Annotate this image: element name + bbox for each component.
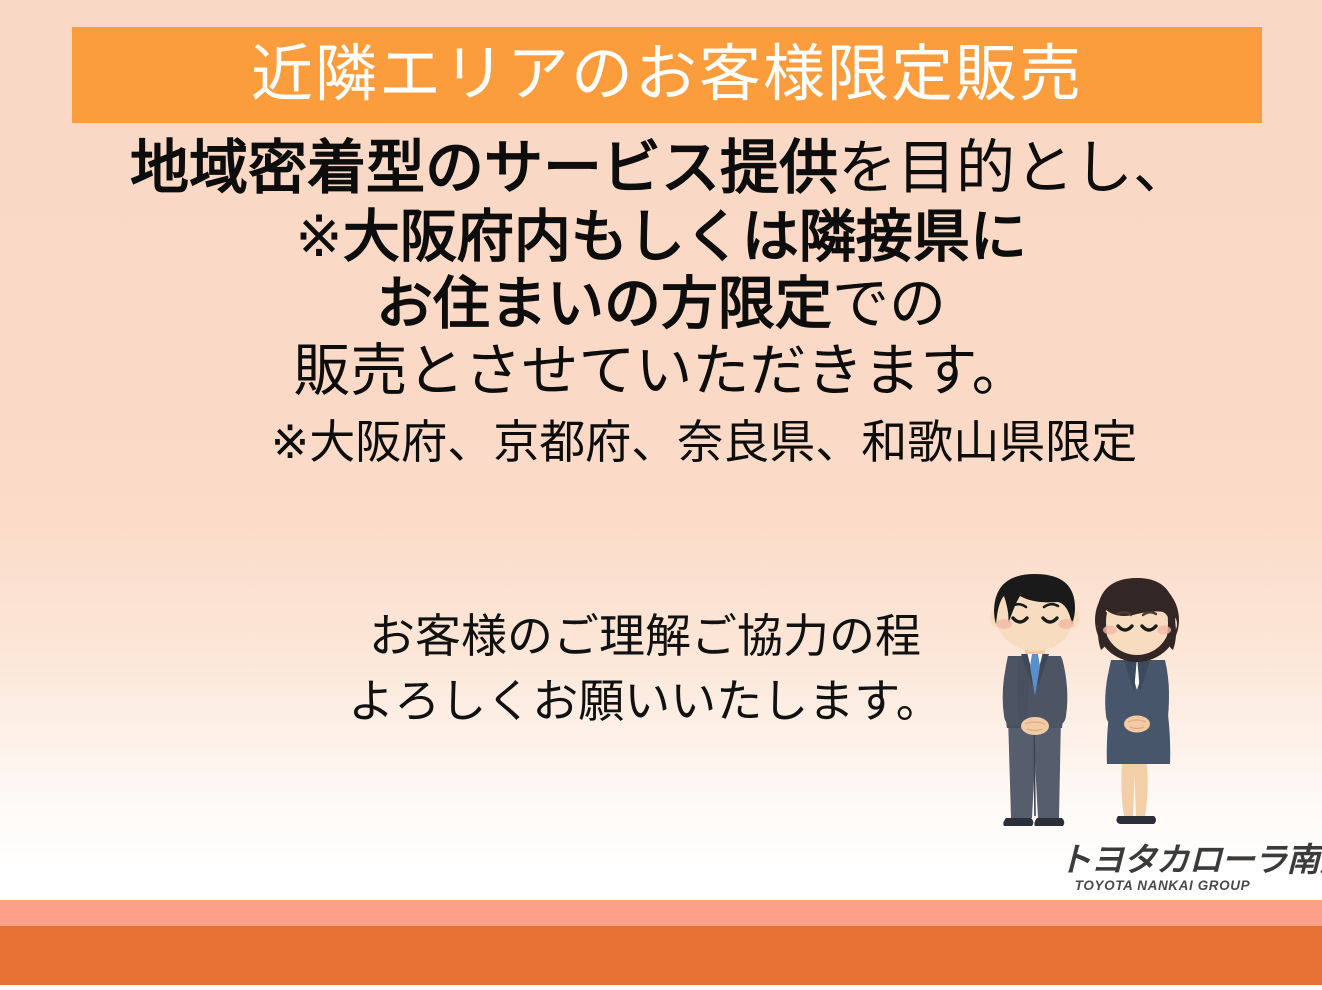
bowing-people-illustration [975,566,1210,851]
logo-english-text: TOYOTA NANKAI GROUP [1060,879,1265,893]
closing-line-2: よろしくお願いいたします。 [348,669,941,734]
message-line-3-strong: お住まいの方限定 [376,272,832,336]
message-line-1-normal: を目的とし、 [838,135,1192,201]
brand-logo: トヨタカローラ南海 TOYOTA NANKAI GROUP [1060,843,1265,893]
message-line-1-strong: 地域密着型のサービス提供 [130,135,838,201]
message-line-3-normal: での [832,272,946,336]
slide-root: 近隣エリアのお客様限定販売 地域密着型のサービス提供を目的とし、 ※大阪府内もし… [0,0,1322,990]
header-title: 近隣エリアのお客様限定販売 [251,44,1083,106]
footer-light-bar [0,900,1322,926]
closing-line-1: お客様のご理解ご協力の程 [348,604,941,669]
footer-white-edge [0,985,1322,990]
footer-dark-bar [0,926,1322,985]
header-banner: 近隣エリアのお客様限定販売 [72,27,1262,123]
message-line-2: ※大阪府内もしくは隣接県に [0,204,1322,271]
closing-message-inner: お客様のご理解ご協力の程 よろしくお願いいたします。 [348,604,941,735]
main-message-block: 地域密着型のサービス提供を目的とし、 ※大阪府内もしくは隣接県に お住まいの方限… [0,134,1322,470]
logo-japanese-text: トヨタカローラ南海 [1058,843,1267,876]
message-line-5-note: ※大阪府、京都府、奈良県、和歌山県限定 [0,415,1322,469]
message-line-1: 地域密着型のサービス提供を目的とし、 [0,134,1322,204]
male-figure [990,574,1080,826]
message-line-3: お住まいの方限定での [0,271,1322,338]
message-line-4: 販売とさせていただきます。 [0,338,1322,405]
female-figure [1095,578,1179,824]
message-line-2-mark: ※ [295,205,343,269]
message-line-2-strong: 大阪府内もしくは隣接県に [343,205,1027,269]
